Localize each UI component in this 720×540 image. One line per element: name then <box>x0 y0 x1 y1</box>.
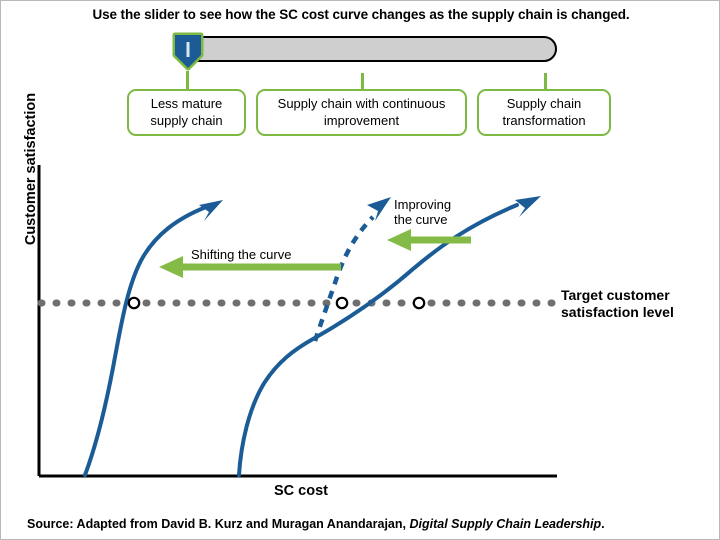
target-satisfaction-label: Target customer satisfaction level <box>561 287 720 321</box>
annotation-improving-the-curve: Improving the curve <box>394 197 451 228</box>
curve-mature-arrowhead <box>515 196 541 217</box>
sc-cost-curve-chart <box>1 151 720 503</box>
marker-improved-intersection <box>337 298 347 308</box>
curve-less-mature <box>85 207 206 475</box>
stem-connector-2 <box>544 73 547 90</box>
curve-mature <box>239 205 517 475</box>
stem-connector-1 <box>361 73 364 90</box>
marker-mature-intersection <box>414 298 424 308</box>
slider-option-less-mature[interactable]: Less mature supply chain <box>127 89 246 136</box>
source-title: Digital Supply Chain Leadership <box>409 517 601 531</box>
source-prefix: Source: Adapted from David B. Kurz and M… <box>27 517 409 531</box>
annotation-shifting-the-curve: Shifting the curve <box>191 247 291 262</box>
page-title: Use the slider to see how the SC cost cu… <box>1 7 720 22</box>
improving-the-curve-arrow <box>387 229 471 251</box>
marker-less-mature-intersection <box>129 298 139 308</box>
slider-option-transformation[interactable]: Supply chain transformation <box>477 89 611 136</box>
stem-connector-0 <box>186 71 189 90</box>
y-axis-title: Customer satisfaction <box>23 79 39 259</box>
source-suffix: . <box>601 517 604 531</box>
source-citation: Source: Adapted from David B. Kurz and M… <box>27 517 605 531</box>
slide-canvas: Use the slider to see how the SC cost cu… <box>0 0 720 540</box>
slider-handle-pentagon-icon[interactable] <box>171 31 205 71</box>
slider-track[interactable] <box>183 36 557 62</box>
slider-option-continuous-improvement[interactable]: Supply chain with continuous improvement <box>256 89 467 136</box>
x-axis-title: SC cost <box>241 483 361 499</box>
